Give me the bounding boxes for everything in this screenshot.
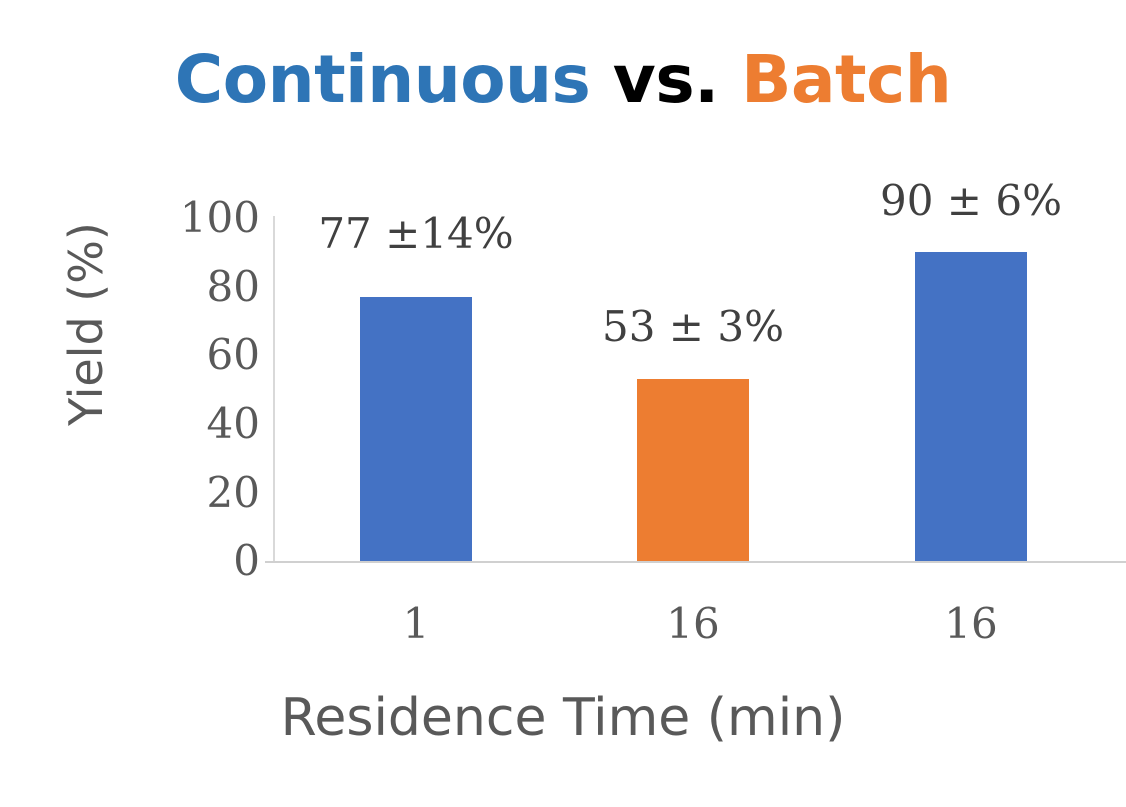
- x-tick-label-2: 16: [891, 603, 1051, 645]
- y-tick-label: 60: [140, 334, 260, 376]
- y-axis-title: Yield (%): [59, 199, 113, 449]
- plot-area: Yield (%) 100 80 60 40 20 0 77 ±14% 53 ±…: [0, 0, 1126, 807]
- bar-0[interactable]: [360, 297, 472, 561]
- x-tick-label-0: 1: [336, 603, 496, 645]
- bar-1[interactable]: [637, 379, 749, 561]
- bar-value-label-1: 53 ± 3%: [553, 306, 833, 348]
- x-tick-label-1: 16: [613, 603, 773, 645]
- y-axis-tick-labels: 100 80 60 40 20 0: [140, 0, 260, 807]
- y-tick-label: 0: [140, 540, 260, 582]
- y-tick-label: 20: [140, 472, 260, 514]
- x-axis-title: Residence Time (min): [0, 688, 1126, 748]
- y-tick-label: 100: [140, 197, 260, 239]
- bar-value-label-0: 77 ±14%: [276, 213, 556, 255]
- bar-2[interactable]: [915, 252, 1027, 561]
- y-axis-line: [273, 216, 275, 563]
- chart-figure: Continuous vs. Batch Yield (%) 100 80 60…: [0, 0, 1126, 807]
- bar-value-label-2: 90 ± 6%: [831, 180, 1111, 222]
- y-tick-label: 40: [140, 403, 260, 445]
- x-axis-line: [265, 561, 1126, 563]
- y-tick-label: 80: [140, 266, 260, 308]
